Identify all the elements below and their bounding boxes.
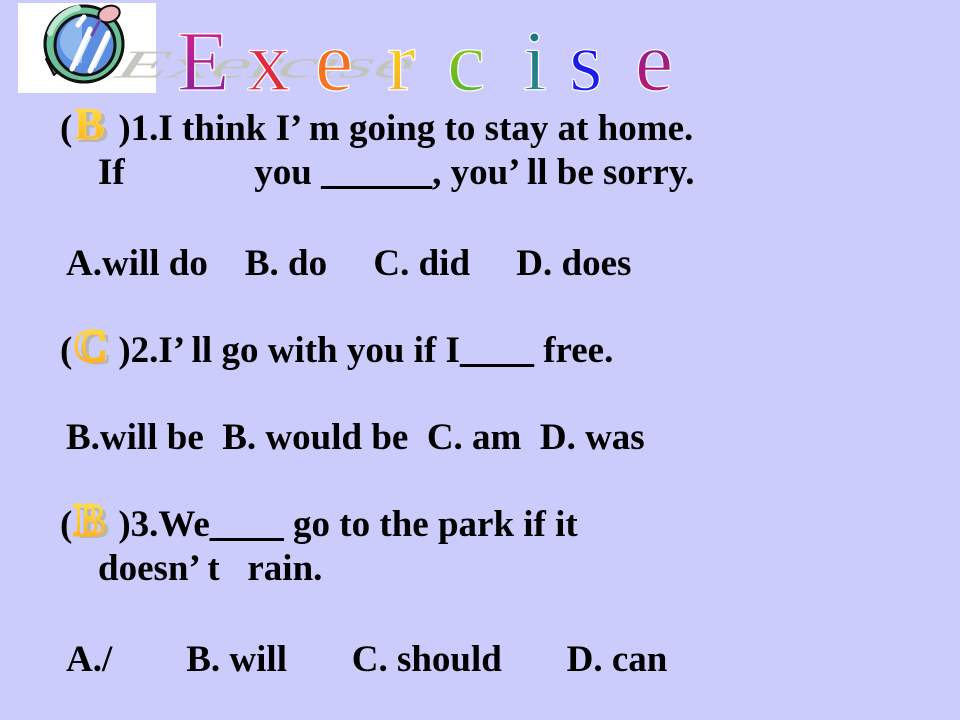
question-2-apostrophe: ’ — [173, 330, 183, 371]
question-2-open-paren: ( — [60, 330, 72, 371]
question-1-close-paren: ) — [118, 108, 130, 149]
wordart-letter-5: i — [523, 13, 547, 109]
question-3-apostrophe: ’ — [188, 548, 198, 589]
wordart-letter-7: e — [635, 13, 673, 109]
question-3-options: A./ B. will C. should D. can — [0, 638, 960, 682]
question-1-line2-b: , you — [432, 152, 508, 193]
question-2-line-1: (CC)2.I’ ll go with you if I____ free. — [60, 328, 960, 373]
question-2-text-b: ll go with you if I — [182, 330, 460, 371]
question-3-line-2: doesn’ t rain. — [60, 547, 960, 591]
question-2-answer-mark: CC — [72, 328, 118, 368]
question-3-line2-a: doesn — [98, 548, 188, 589]
question-3-text-a: 3.We — [131, 504, 210, 545]
question-1-apostrophe: ’ — [290, 108, 300, 149]
question-3-answer-mark: BB — [72, 502, 118, 542]
answer-mark-glyph: C — [74, 320, 107, 371]
question-3-blank: ____ — [210, 504, 284, 545]
wordart-letter-4: c — [447, 13, 485, 109]
question-2-options: B.will be B. would be C. am D. was — [0, 416, 960, 460]
question-2: (CC)2.I’ ll go with you if I____ free. — [60, 328, 960, 373]
wordart-letters: E x e r c i s e — [177, 13, 673, 109]
question-3-open-paren: ( — [60, 504, 72, 545]
question-3: (BB)3.We____ go to the park if it doesn’… — [60, 502, 960, 591]
question-3-line-1: (BB)3.We____ go to the park if it — [60, 502, 960, 547]
question-1-options: A.will do B. do C. did D. does — [0, 242, 960, 286]
question-1-line-2: If you ______, you’ ll be sorry. — [60, 151, 960, 195]
question-1-answer-mark: BB — [72, 106, 118, 146]
answer-mark-glyph: B — [74, 494, 105, 545]
wordart-letter-1: x — [247, 13, 290, 109]
question-2-text-a: 2.I — [131, 330, 173, 371]
question-2-close-paren: ) — [118, 330, 130, 371]
question-3-line2-b: t rain. — [198, 548, 322, 589]
question-1-line2-a: If you — [98, 152, 321, 193]
question-3-close-paren: ) — [118, 504, 130, 545]
question-1-text-b: m going to stay at home. — [300, 108, 694, 149]
wordart-letter-0: E — [177, 13, 230, 109]
wordart-letter-6: s — [569, 13, 602, 109]
question-1: (BB)1.I think I’ m going to stay at home… — [60, 106, 960, 195]
wordart-letter-3: r — [387, 13, 416, 109]
question-1-apostrophe-2: ’ — [508, 152, 518, 193]
question-1-line-1: (BB)1.I think I’ m going to stay at home… — [60, 106, 960, 151]
question-1-open-paren: ( — [60, 108, 72, 149]
question-2-text-c: free. — [534, 330, 613, 371]
answer-mark-glyph: B — [74, 98, 105, 149]
question-3-text-b: go to the park if it — [284, 504, 578, 545]
question-1-line2-c: ll be sorry. — [518, 152, 695, 193]
wordart-title: Exercise E x e r c i s e — [175, 2, 775, 102]
question-1-blank: ______ — [321, 152, 432, 193]
wordart-letter-2: e — [315, 13, 353, 109]
question-1-text-a: 1.I think I — [131, 108, 290, 149]
question-2-blank: ____ — [460, 330, 534, 371]
